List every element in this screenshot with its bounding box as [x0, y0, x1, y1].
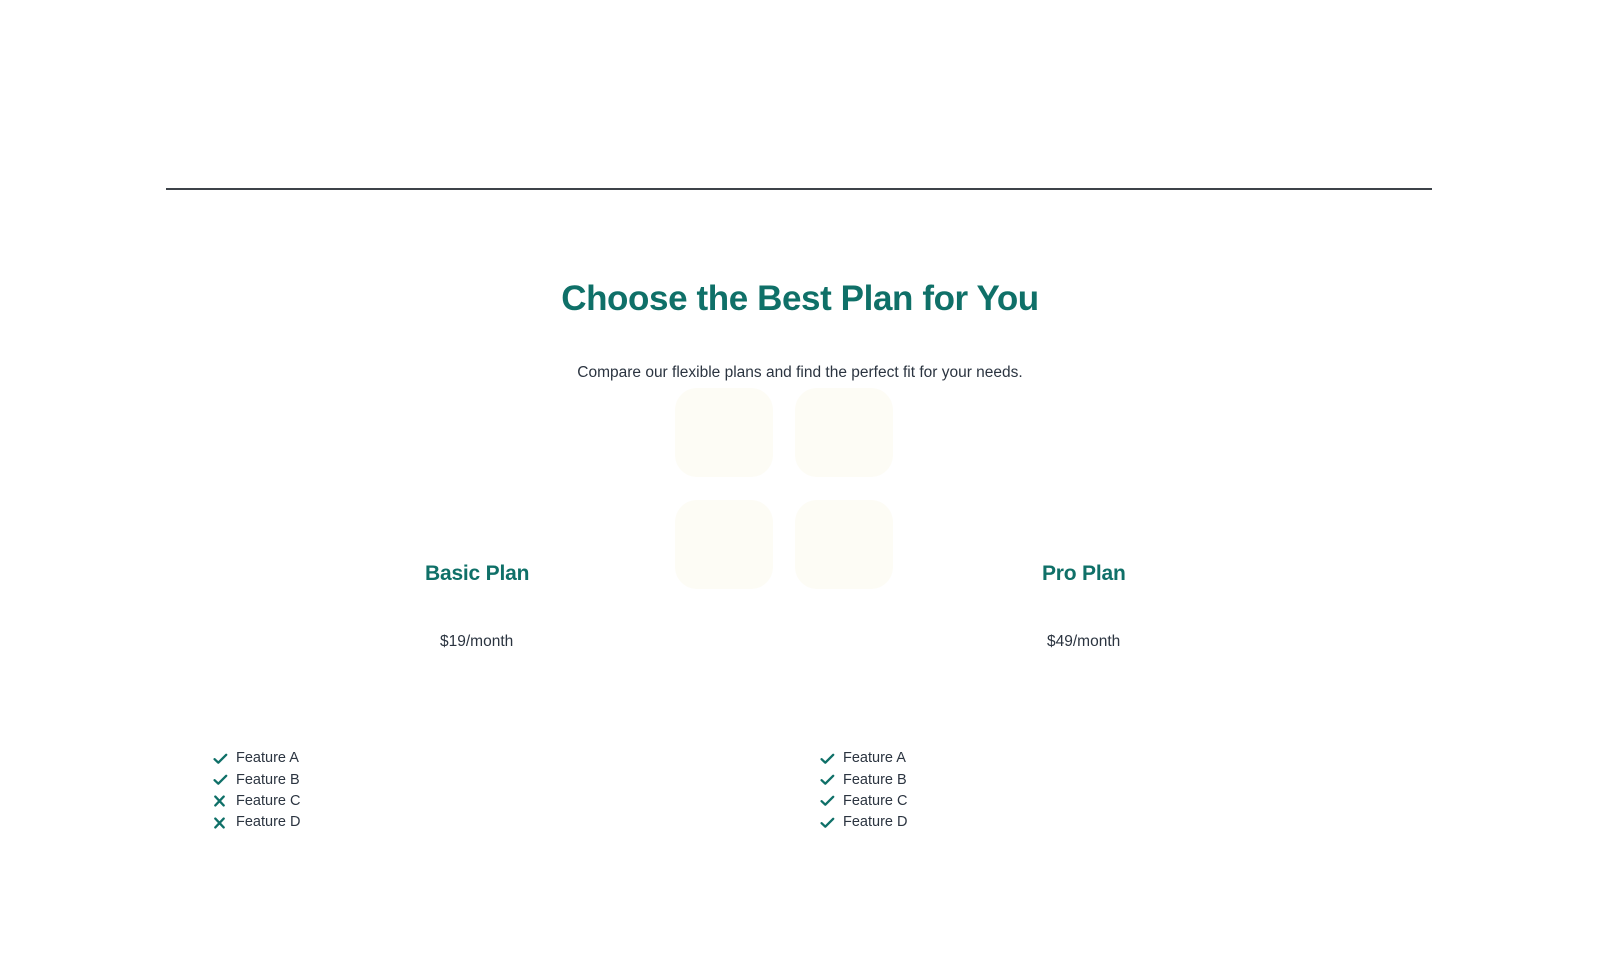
placeholder-tile: [795, 388, 893, 477]
check-icon: [213, 772, 232, 788]
feature-label: Feature A: [839, 751, 906, 766]
feature-row: Feature C: [820, 791, 907, 812]
header-section: Choose the Best Plan for You Compare our…: [0, 278, 1600, 384]
check-icon: [820, 815, 839, 831]
feature-list-pro: Feature A Feature B Feature C Feature D: [820, 748, 907, 833]
page-title: Choose the Best Plan for You: [0, 278, 1600, 320]
feature-label: Feature D: [839, 815, 907, 830]
check-icon: [213, 751, 232, 767]
feature-label: Feature C: [232, 794, 300, 809]
feature-row: Feature B: [820, 769, 907, 790]
feature-label: Feature B: [839, 773, 907, 788]
feature-row: Feature D: [820, 812, 907, 833]
feature-label: Feature D: [232, 815, 300, 830]
feature-row: Feature C: [213, 791, 300, 812]
feature-row: Feature B: [213, 769, 300, 790]
feature-list-basic: Feature A Feature B Feature C Feature D: [213, 748, 300, 833]
check-icon: [820, 793, 839, 809]
cross-icon: [213, 793, 232, 809]
placeholder-tile: [675, 388, 773, 477]
top-divider: [166, 188, 1432, 190]
placeholder-tile: [795, 500, 893, 589]
placeholder-tile: [675, 500, 773, 589]
check-icon: [820, 772, 839, 788]
feature-row: Feature D: [213, 812, 300, 833]
plan-title-pro: Pro Plan: [1042, 560, 1126, 587]
plan-price-basic: $19/month: [440, 632, 513, 652]
feature-label: Feature C: [839, 794, 907, 809]
check-icon: [820, 751, 839, 767]
plan-title-basic: Basic Plan: [425, 560, 529, 587]
cross-icon: [213, 815, 232, 831]
feature-label: Feature B: [232, 773, 300, 788]
feature-label: Feature A: [232, 751, 299, 766]
plan-price-pro: $49/month: [1047, 632, 1120, 652]
feature-row: Feature A: [213, 748, 300, 769]
feature-row: Feature A: [820, 748, 907, 769]
page-subtitle: Compare our flexible plans and find the …: [0, 320, 1600, 384]
placeholder-tile-grid: [675, 388, 913, 600]
